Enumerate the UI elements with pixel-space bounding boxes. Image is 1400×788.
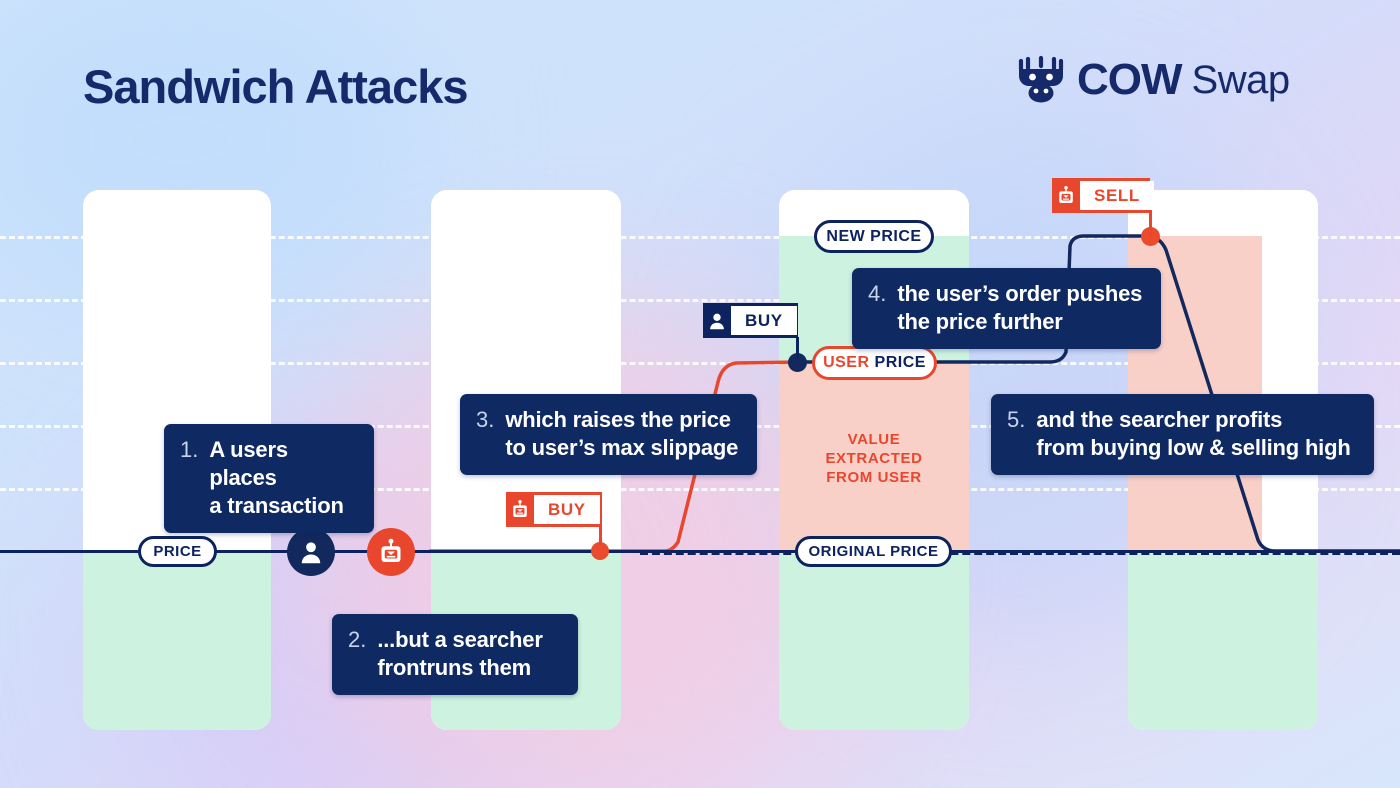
callout-number: 3. (476, 406, 494, 434)
robot-avatar-icon (367, 528, 415, 576)
page-title: Sandwich Attacks (83, 58, 468, 116)
callout-line-1: the user’s order pushes (897, 280, 1142, 308)
callout-5: 5. and the searcher profits from buying … (991, 394, 1374, 475)
callout-2: 2. ...but a searcher frontruns them (332, 614, 578, 695)
callout-3: 3. which raises the price to user’s max … (460, 394, 757, 475)
callout-line-2: frontruns them (377, 654, 542, 682)
price-pill: PRICE (138, 536, 217, 567)
value-extracted-line-2: EXTRACTED (804, 449, 944, 468)
tx-badge-searcher-buy[interactable]: BUY (506, 492, 602, 527)
callout-line-2: from buying low & selling high (1036, 434, 1350, 462)
callout-line-2: a transaction (209, 492, 356, 520)
callout-number: 1. (180, 436, 198, 464)
user-avatar-icon (287, 528, 335, 576)
user-buy-leader (796, 337, 799, 359)
infographic-canvas: BUY BUY SELL NEW PRICE USER PRICE ORIGIN… (0, 0, 1400, 788)
callout-line-1: which raises the price (505, 406, 738, 434)
searcher-robot-icon (1055, 181, 1077, 210)
value-extracted-line-3: FROM USER (804, 468, 944, 487)
searcher-buy-leader (599, 525, 602, 545)
callout-line-1: A users places (209, 436, 356, 492)
tx-action-label: SELL (1077, 181, 1154, 210)
brand-name-cow: COW (1077, 55, 1182, 105)
user-price-word-user: USER (823, 354, 869, 372)
value-extracted-line-1: VALUE (804, 430, 944, 449)
searcher-sell-leader (1149, 210, 1152, 238)
searcher-robot-icon (509, 495, 531, 524)
callout-number: 2. (348, 626, 366, 654)
callout-line-2: the price further (897, 308, 1142, 336)
callout-number: 4. (868, 280, 886, 308)
callout-4: 4. the user’s order pushes the price fur… (852, 268, 1161, 349)
tx-action-label: BUY (728, 306, 797, 335)
callout-line-2: to user’s max slippage (505, 434, 738, 462)
new-price-pill: NEW PRICE (814, 220, 934, 253)
value-extracted-label: VALUE EXTRACTED FROM USER (804, 430, 944, 487)
original-price-dashed-line (640, 551, 1400, 555)
tx-badge-searcher-sell[interactable]: SELL (1052, 178, 1150, 213)
brand-logo[interactable]: COW Swap (1015, 55, 1290, 105)
original-price-pill: ORIGINAL PRICE (795, 536, 952, 567)
callout-1: 1. A users places a transaction (164, 424, 374, 533)
brand-name-swap: Swap (1192, 58, 1290, 103)
tx-badge-user-buy[interactable]: BUY (703, 303, 798, 338)
tx-action-label: BUY (531, 495, 600, 524)
user-price-pill: USER PRICE (812, 346, 937, 380)
user-person-icon (706, 306, 728, 335)
user-price-word-price: PRICE (875, 354, 926, 372)
callout-line-1: and the searcher profits (1036, 406, 1350, 434)
cow-head-icon (1015, 55, 1067, 105)
callout-line-1: ...but a searcher (377, 626, 542, 654)
callout-number: 5. (1007, 406, 1025, 434)
